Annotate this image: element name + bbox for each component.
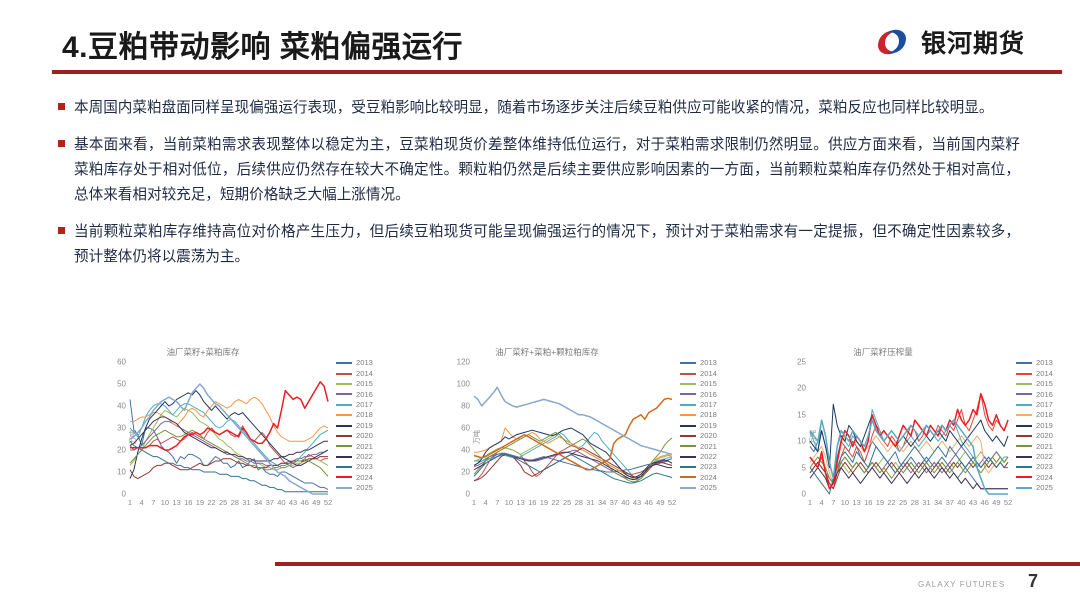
series-canvas — [474, 362, 672, 494]
legend-color-swatch — [680, 414, 696, 416]
x-axis-tick: 34 — [934, 498, 942, 507]
legend-label: 2016 — [356, 391, 373, 399]
legend-color-swatch — [336, 383, 352, 385]
chart-title: 油厂菜籽+菜粕+颗粒粕库存 — [432, 346, 662, 358]
company-logo: 银河期货 — [872, 24, 1025, 60]
legend-color-swatch — [680, 393, 696, 395]
x-axis-tick: 10 — [161, 498, 169, 507]
chart-rapeseed-crush-volume: 油厂菜籽压榨量万吨0510152025147101316192225283134… — [768, 340, 1068, 530]
x-axis-tick: 37 — [266, 498, 274, 507]
y-axis-tick: 25 — [797, 358, 806, 367]
y-axis-tick: 40 — [117, 402, 126, 411]
bullet-text: 当前颗粒菜粕库存维持高位对价格产生压力，但后续豆粕现货可能呈现偏强运行的情况下，… — [74, 220, 1020, 270]
legend-item[interactable]: 2013 — [680, 358, 742, 368]
legend-item[interactable]: 2013 — [1016, 358, 1078, 368]
slide: 4.豆粕带动影响 菜粕偏强运行 银河期货 本周国内菜粕盘面同样呈现偏强运行表现，… — [0, 0, 1080, 608]
legend-color-swatch — [336, 425, 352, 427]
x-axis-tick: 19 — [196, 498, 204, 507]
chart-title: 油厂菜籽+菜粕库存 — [88, 346, 318, 358]
x-axis-tick: 7 — [151, 498, 155, 507]
legend-item[interactable]: 2021 — [1016, 441, 1078, 451]
legend-item[interactable]: 2021 — [336, 441, 398, 451]
legend-color-swatch — [1016, 476, 1032, 478]
x-axis-tick: 4 — [140, 498, 144, 507]
legend-label: 2020 — [356, 432, 373, 440]
legend-color-swatch — [680, 425, 696, 427]
x-axis-tick: 22 — [207, 498, 215, 507]
x-axis-tick: 49 — [312, 498, 320, 507]
legend-label: 2024 — [1036, 474, 1053, 482]
page-title: 4.豆粕带动影响 菜粕偏强运行 — [62, 22, 463, 66]
x-axis-tick: 31 — [242, 498, 250, 507]
legend-item[interactable]: 2025 — [1016, 483, 1078, 493]
x-axis-tick: 49 — [992, 498, 1000, 507]
x-axis: 147101316192225283134374043464952 — [130, 498, 328, 510]
legend-color-swatch — [680, 466, 696, 468]
y-axis-tick: 30 — [117, 424, 126, 433]
x-axis-tick: 25 — [563, 498, 571, 507]
x-axis-tick: 52 — [324, 498, 332, 507]
legend-color-swatch — [1016, 373, 1032, 375]
y-axis-tick: 0 — [802, 490, 806, 499]
header-divider — [52, 70, 1062, 74]
series-line — [130, 384, 328, 494]
y-axis-tick: 20 — [797, 384, 806, 393]
legend-item[interactable]: 2025 — [336, 483, 398, 493]
legend-label: 2019 — [1036, 422, 1053, 430]
x-axis-tick: 7 — [495, 498, 499, 507]
legend-label: 2017 — [356, 401, 373, 409]
legend-item[interactable]: 2020 — [336, 431, 398, 441]
legend-item[interactable]: 2022 — [336, 452, 398, 462]
legend-label: 2017 — [1036, 401, 1053, 409]
series-canvas — [130, 362, 328, 494]
legend-label: 2013 — [1036, 359, 1053, 367]
legend-label: 2023 — [356, 463, 373, 471]
legend-color-swatch — [680, 487, 696, 489]
x-axis-tick: 40 — [621, 498, 629, 507]
x-axis-tick: 10 — [505, 498, 513, 507]
legend-color-swatch — [1016, 466, 1032, 468]
legend-color-swatch — [680, 445, 696, 447]
legend-label: 2024 — [356, 474, 373, 482]
legend-label: 2021 — [700, 443, 717, 451]
legend-color-swatch — [1016, 393, 1032, 395]
legend-label: 2025 — [1036, 484, 1053, 492]
legend-item[interactable]: 2022 — [680, 452, 742, 462]
legend-color-swatch — [336, 393, 352, 395]
x-axis-tick: 49 — [656, 498, 664, 507]
legend-label: 2014 — [356, 370, 373, 378]
legend-label: 2023 — [1036, 463, 1053, 471]
x-axis-tick: 52 — [1004, 498, 1012, 507]
legend-item[interactable]: 2017 — [680, 400, 742, 410]
series-canvas — [810, 362, 1008, 494]
slide-header: 4.豆粕带动影响 菜粕偏强运行 银河期货 — [0, 0, 1080, 78]
square-bullet-icon — [58, 103, 65, 110]
legend-color-swatch — [680, 362, 696, 364]
x-axis-tick: 40 — [277, 498, 285, 507]
series-line — [810, 394, 1008, 489]
legend-color-swatch — [336, 373, 352, 375]
legend-label: 2020 — [700, 432, 717, 440]
x-axis: 147101316192225283134374043464952 — [474, 498, 672, 510]
legend-color-swatch — [1016, 487, 1032, 489]
x-axis-tick: 4 — [820, 498, 824, 507]
x-axis-tick: 28 — [911, 498, 919, 507]
legend-item[interactable]: 2016 — [336, 389, 398, 399]
y-axis-tick: 5 — [802, 463, 806, 472]
x-axis-tick: 25 — [219, 498, 227, 507]
plot-area: 万吨0510152025 — [810, 362, 1008, 494]
chart-legend: 2013201420152016201720182019202020212022… — [336, 358, 398, 493]
legend-item[interactable]: 2020 — [1016, 431, 1078, 441]
legend-color-swatch — [336, 414, 352, 416]
x-axis-tick: 31 — [922, 498, 930, 507]
legend-item[interactable]: 2023 — [680, 462, 742, 472]
legend-label: 2021 — [1036, 443, 1053, 451]
chart-legend: 2013201420152016201720182019202020212022… — [1016, 358, 1078, 493]
x-axis-tick: 16 — [528, 498, 536, 507]
legend-color-swatch — [336, 456, 352, 458]
legend-item[interactable]: 2023 — [1016, 462, 1078, 472]
legend-color-swatch — [1016, 456, 1032, 458]
x-axis-tick: 37 — [946, 498, 954, 507]
legend-item[interactable]: 2024 — [680, 472, 742, 482]
bullet-text: 基本面来看，当前菜粕需求表现整体以稳定为主，豆菜粕现货价差整体维持低位运行，对于… — [74, 133, 1020, 208]
y-axis-tick: 60 — [461, 424, 470, 433]
legend-label: 2021 — [356, 443, 373, 451]
bullet-text: 本周国内菜粕盘面同样呈现偏强运行表现，受豆粕影响比较明显，随着市场逐步关注后续豆… — [74, 96, 1020, 121]
y-axis-tick: 0 — [466, 490, 470, 499]
legend-color-swatch — [680, 404, 696, 406]
legend-label: 2016 — [1036, 391, 1053, 399]
legend-item[interactable]: 2018 — [336, 410, 398, 420]
legend-label: 2013 — [700, 359, 717, 367]
legend-item[interactable]: 2025 — [680, 483, 742, 493]
chart-title: 油厂菜籽压榨量 — [768, 346, 998, 358]
bullet-list: 本周国内菜粕盘面同样呈现偏强运行表现，受豆粕影响比较明显，随着市场逐步关注后续豆… — [58, 96, 1020, 282]
legend-label: 2018 — [1036, 411, 1053, 419]
legend-color-swatch — [336, 404, 352, 406]
x-axis-tick: 34 — [598, 498, 606, 507]
x-axis-tick: 34 — [254, 498, 262, 507]
series-line — [130, 441, 328, 492]
x-axis-tick: 22 — [887, 498, 895, 507]
x-axis-tick: 19 — [876, 498, 884, 507]
x-axis-tick: 4 — [484, 498, 488, 507]
legend-label: 2017 — [700, 401, 717, 409]
x-axis-tick: 43 — [969, 498, 977, 507]
x-axis-tick: 1 — [472, 498, 476, 507]
x-axis-tick: 46 — [981, 498, 989, 507]
legend-item[interactable]: 2014 — [1016, 368, 1078, 378]
y-axis-tick: 100 — [457, 380, 470, 389]
legend-color-swatch — [1016, 404, 1032, 406]
legend-item[interactable]: 2020 — [680, 431, 742, 441]
legend-item[interactable]: 2015 — [1016, 379, 1078, 389]
legend-color-swatch — [680, 456, 696, 458]
legend-label: 2015 — [700, 380, 717, 388]
legend-item[interactable]: 2017 — [336, 400, 398, 410]
y-axis-tick: 20 — [461, 468, 470, 477]
legend-item[interactable]: 2015 — [336, 379, 398, 389]
x-axis-tick: 25 — [899, 498, 907, 507]
legend-label: 2019 — [700, 422, 717, 430]
legend-label: 2024 — [700, 474, 717, 482]
legend-item[interactable]: 2017 — [1016, 400, 1078, 410]
legend-color-swatch — [1016, 425, 1032, 427]
legend-item[interactable]: 2019 — [1016, 420, 1078, 430]
legend-label: 2013 — [356, 359, 373, 367]
x-axis-tick: 28 — [575, 498, 583, 507]
x-axis: 147101316192225283134374043464952 — [810, 498, 1008, 510]
legend-item[interactable]: 2018 — [680, 410, 742, 420]
x-axis-tick: 22 — [551, 498, 559, 507]
chart-legend: 2013201420152016201720182019202020212022… — [680, 358, 742, 493]
legend-item[interactable]: 2016 — [1016, 389, 1078, 399]
footer-brand: GALAXY FUTURES — [918, 580, 1005, 589]
legend-label: 2022 — [700, 453, 717, 461]
legend-label: 2025 — [700, 484, 717, 492]
legend-item[interactable]: 2016 — [680, 389, 742, 399]
legend-label: 2018 — [356, 411, 373, 419]
legend-item[interactable]: 2023 — [336, 462, 398, 472]
y-axis-tick: 10 — [117, 468, 126, 477]
list-item: 基本面来看，当前菜粕需求表现整体以稳定为主，豆菜粕现货价差整体维持低位运行，对于… — [58, 133, 1020, 208]
y-axis-tick: 80 — [461, 402, 470, 411]
y-axis-tick: 60 — [117, 358, 126, 367]
legend-color-swatch — [1016, 445, 1032, 447]
legend-label: 2023 — [700, 463, 717, 471]
chart-rapeseed-rapemeal-pellet-inventory: 油厂菜籽+菜粕+颗粒粕库存万吨0204060801001201471013161… — [432, 340, 732, 530]
legend-label: 2014 — [700, 370, 717, 378]
series-line — [474, 454, 672, 483]
legend-color-swatch — [680, 383, 696, 385]
x-axis-tick: 43 — [633, 498, 641, 507]
x-axis-tick: 13 — [516, 498, 524, 507]
page-number: 7 — [1028, 571, 1038, 592]
legend-item[interactable]: 2015 — [680, 379, 742, 389]
legend-item[interactable]: 2021 — [680, 441, 742, 451]
x-axis-tick: 16 — [184, 498, 192, 507]
plot-area: 万吨0102030405060 — [130, 362, 328, 494]
list-item: 本周国内菜粕盘面同样呈现偏强运行表现，受豆粕影响比较明显，随着市场逐步关注后续豆… — [58, 96, 1020, 121]
legend-item[interactable]: 2024 — [336, 472, 398, 482]
legend-color-swatch — [1016, 414, 1032, 416]
legend-label: 2016 — [700, 391, 717, 399]
legend-color-swatch — [336, 445, 352, 447]
legend-label: 2020 — [1036, 432, 1053, 440]
legend-color-swatch — [680, 435, 696, 437]
y-axis-tick: 0 — [122, 490, 126, 499]
legend-color-swatch — [1016, 383, 1032, 385]
legend-color-swatch — [336, 435, 352, 437]
legend-item[interactable]: 2014 — [336, 368, 398, 378]
series-line — [810, 452, 1008, 484]
legend-label: 2014 — [1036, 370, 1053, 378]
series-line — [130, 399, 328, 489]
x-axis-tick: 13 — [852, 498, 860, 507]
x-axis-tick: 28 — [231, 498, 239, 507]
legend-label: 2015 — [1036, 380, 1053, 388]
legend-color-swatch — [336, 466, 352, 468]
legend-item[interactable]: 2019 — [336, 420, 398, 430]
x-axis-tick: 46 — [645, 498, 653, 507]
x-axis-tick: 16 — [864, 498, 872, 507]
legend-label: 2018 — [700, 411, 717, 419]
x-axis-tick: 1 — [808, 498, 812, 507]
x-axis-tick: 52 — [668, 498, 676, 507]
y-axis-tick: 120 — [457, 358, 470, 367]
x-axis-tick: 31 — [586, 498, 594, 507]
series-line — [474, 448, 672, 481]
legend-color-swatch — [336, 476, 352, 478]
legend-color-swatch — [680, 373, 696, 375]
legend-label: 2025 — [356, 484, 373, 492]
x-axis-tick: 10 — [841, 498, 849, 507]
y-axis-tick: 40 — [461, 446, 470, 455]
y-axis-tick: 15 — [797, 410, 806, 419]
x-axis-tick: 7 — [831, 498, 835, 507]
legend-color-swatch — [1016, 435, 1032, 437]
plot-area: 万吨020406080100120 — [474, 362, 672, 494]
legend-color-swatch — [336, 362, 352, 364]
legend-item[interactable]: 2018 — [1016, 410, 1078, 420]
legend-label: 2022 — [1036, 453, 1053, 461]
chart-row: 油厂菜籽+菜粕库存万吨01020304050601471013161922252… — [0, 340, 1080, 530]
legend-item[interactable]: 2013 — [336, 358, 398, 368]
list-item: 当前颗粒菜粕库存维持高位对价格产生压力，但后续豆粕现货可能呈现偏强运行的情况下，… — [58, 220, 1020, 270]
legend-label: 2015 — [356, 380, 373, 388]
company-name: 银河期货 — [921, 24, 1025, 60]
x-axis-tick: 19 — [540, 498, 548, 507]
galaxy-swirl-logo-icon — [872, 25, 912, 59]
chart-rapeseed-rapemeal-inventory: 油厂菜籽+菜粕库存万吨01020304050601471013161922252… — [88, 340, 388, 530]
y-axis-tick: 50 — [117, 380, 126, 389]
legend-item[interactable]: 2022 — [1016, 452, 1078, 462]
x-axis-tick: 46 — [301, 498, 309, 507]
legend-item[interactable]: 2014 — [680, 368, 742, 378]
x-axis-tick: 37 — [610, 498, 618, 507]
legend-label: 2022 — [356, 453, 373, 461]
square-bullet-icon — [58, 140, 65, 147]
legend-color-swatch — [1016, 362, 1032, 364]
legend-label: 2019 — [356, 422, 373, 430]
x-axis-tick: 40 — [957, 498, 965, 507]
legend-item[interactable]: 2019 — [680, 420, 742, 430]
square-bullet-icon — [58, 227, 65, 234]
x-axis-tick: 1 — [128, 498, 132, 507]
x-axis-tick: 13 — [172, 498, 180, 507]
legend-color-swatch — [336, 487, 352, 489]
y-axis-tick: 20 — [117, 446, 126, 455]
footer-divider — [275, 562, 1080, 566]
x-axis-tick: 43 — [289, 498, 297, 507]
y-axis-tick: 10 — [797, 437, 806, 446]
legend-item[interactable]: 2024 — [1016, 472, 1078, 482]
legend-color-swatch — [680, 476, 696, 478]
